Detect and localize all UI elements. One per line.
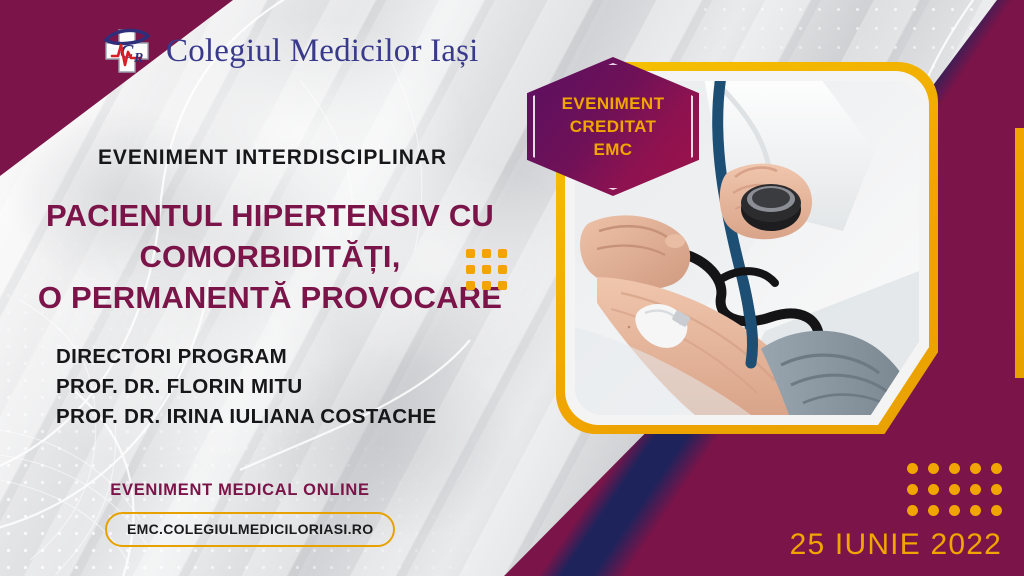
event-kicker: EVENIMENT INTERDISCIPLINAR [98, 146, 447, 170]
medical-cross-cmr-logo-icon: C R [100, 24, 154, 78]
event-website-link[interactable]: EMC.COLEGIULMEDICILORIASI.RO [105, 512, 395, 547]
gold-edge-bar [1015, 128, 1024, 378]
title-line-1: PACIENTUL HIPERTENSIV CU [0, 196, 540, 237]
decorative-dot-grid-corner [907, 463, 1002, 516]
svg-text:R: R [133, 51, 143, 66]
program-directors: DIRECTORI PROGRAM PROF. DR. FLORIN MITU … [56, 342, 437, 432]
badge-text: EVENIMENT CREDITAT EMC [562, 92, 665, 161]
badge-line-2: CREDITAT [562, 115, 665, 138]
organization-name: Colegiul Medicilor Iași [166, 33, 479, 70]
title-line-2: COMORBIDITĂȚI, [0, 237, 540, 278]
director-name: PROF. DR. FLORIN MITU [56, 372, 437, 402]
badge-line-1: EVENIMENT [562, 92, 665, 115]
title-line-3: O PERMANENTĂ PROVOCARE [0, 278, 540, 319]
page-title: PACIENTUL HIPERTENSIV CU COMORBIDITĂȚI, … [0, 196, 540, 319]
event-date: 25 IUNIE 2022 [790, 528, 1002, 562]
directors-heading: DIRECTORI PROGRAM [56, 342, 437, 372]
decorative-dot-grid-title [466, 249, 507, 290]
badge-line-3: EMC [562, 138, 665, 161]
director-name: PROF. DR. IRINA IULIANA COSTACHE [56, 402, 437, 432]
online-event-label: EVENIMENT MEDICAL ONLINE [0, 481, 480, 500]
event-poster: C R Colegiul Medicilor Iași EVENIMENT IN… [0, 0, 1024, 576]
brand-logo: C R Colegiul Medicilor Iași [100, 24, 479, 78]
